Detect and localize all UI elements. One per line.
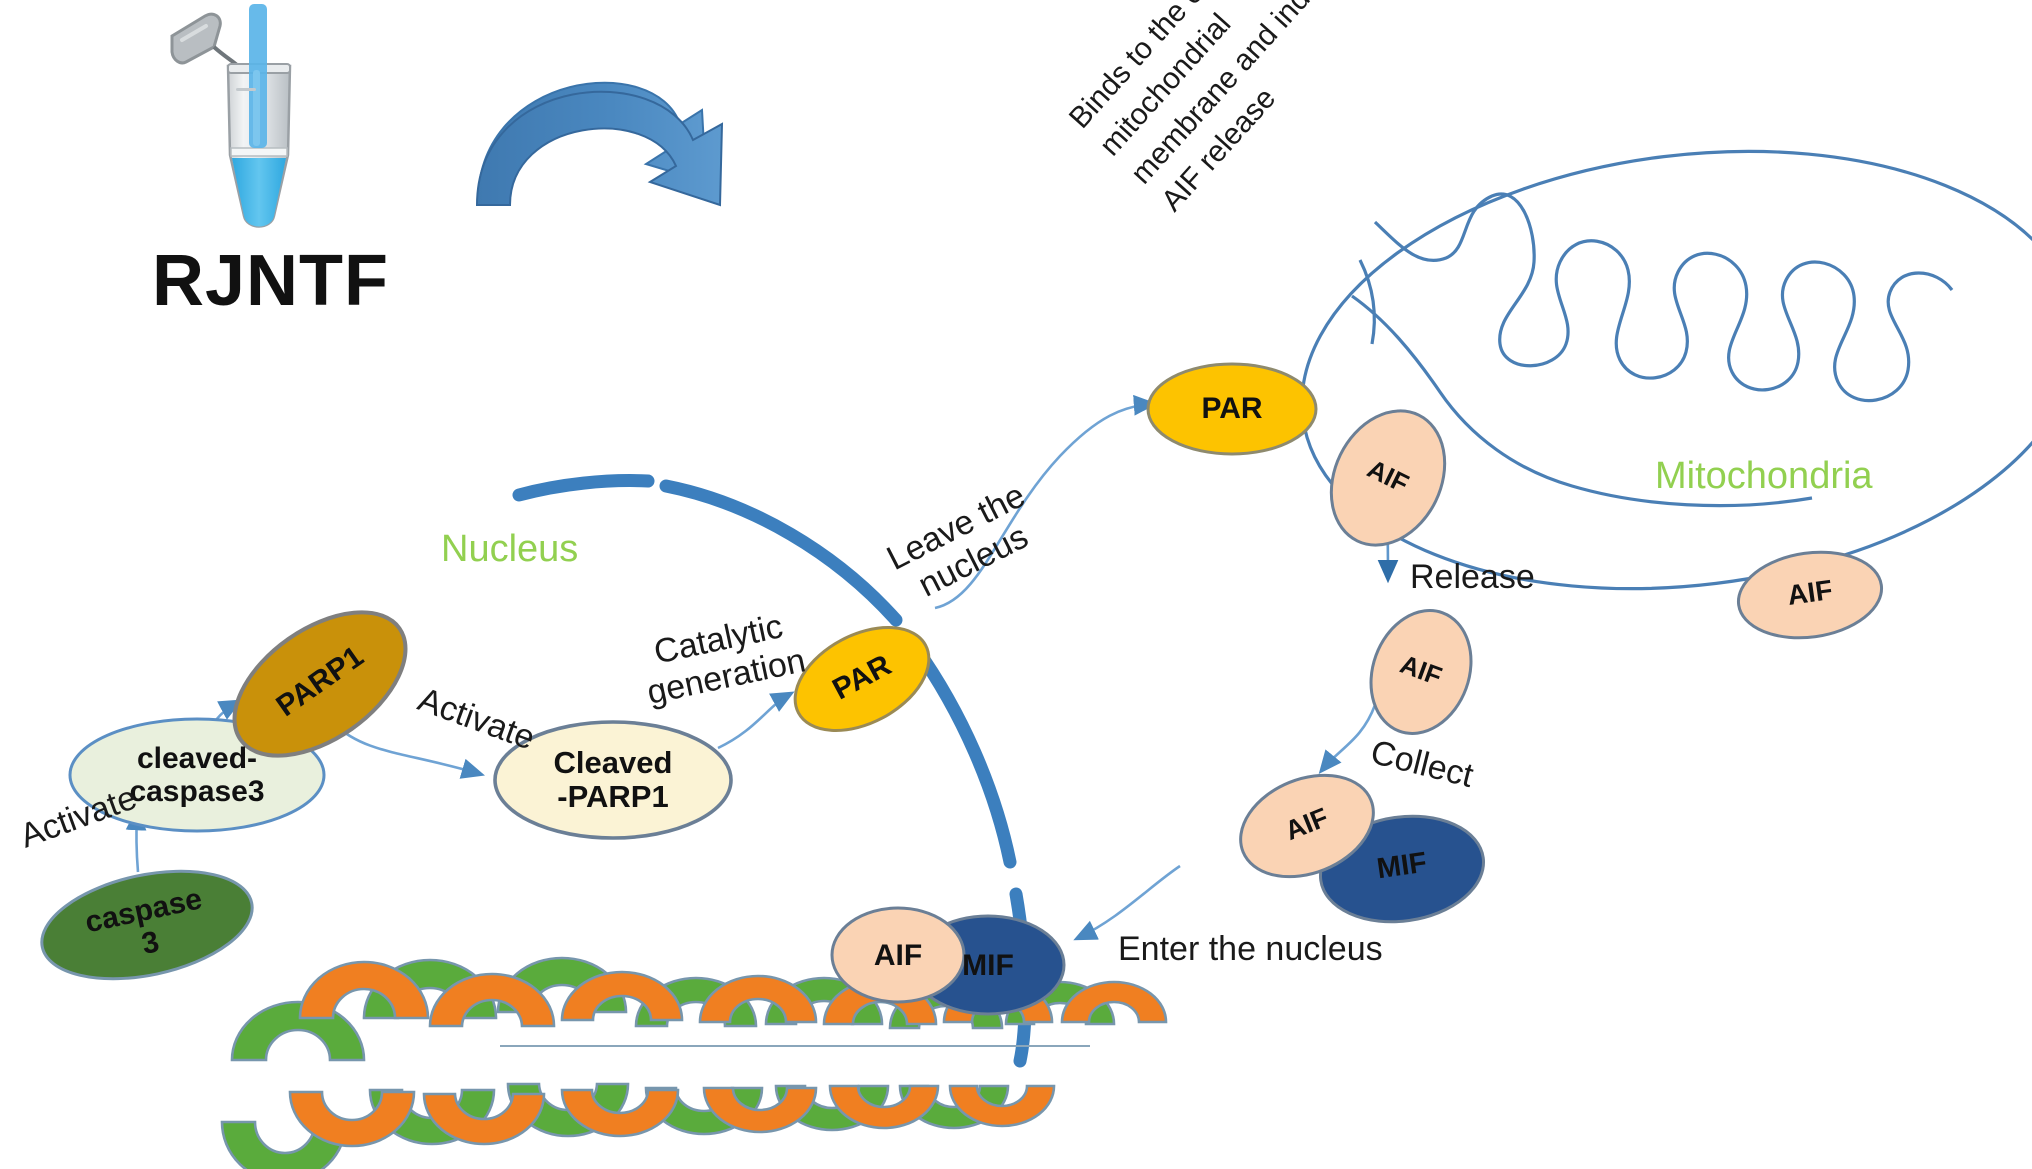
nucleus-label: Nucleus [441,528,578,571]
node-aif-membrane [1310,392,1467,564]
node-caspase3 [32,854,262,996]
figure-canvas: RJNTF Nucleus Mitochondria PARP1 cleaved… [0,0,2032,1169]
node-aif-nuclear [832,908,964,1002]
mitochondria-label: Mitochondria [1655,455,1873,498]
node-aif-inner [1733,543,1887,646]
mitochondrion-shape [1277,109,2032,631]
node-par-outer [1148,364,1316,454]
protein-nodes [32,364,1887,1014]
edge-label-enter-nucleus: Enter the nucleus [1118,930,1383,968]
curved-arrow-icon [477,83,722,205]
edge-label-release: Release [1410,558,1535,596]
diagram-vector-layer [0,0,2032,1169]
eppendorf-tube-icon [172,4,290,227]
brand-label: RJNTF [152,240,389,322]
node-aif-released [1354,596,1487,747]
